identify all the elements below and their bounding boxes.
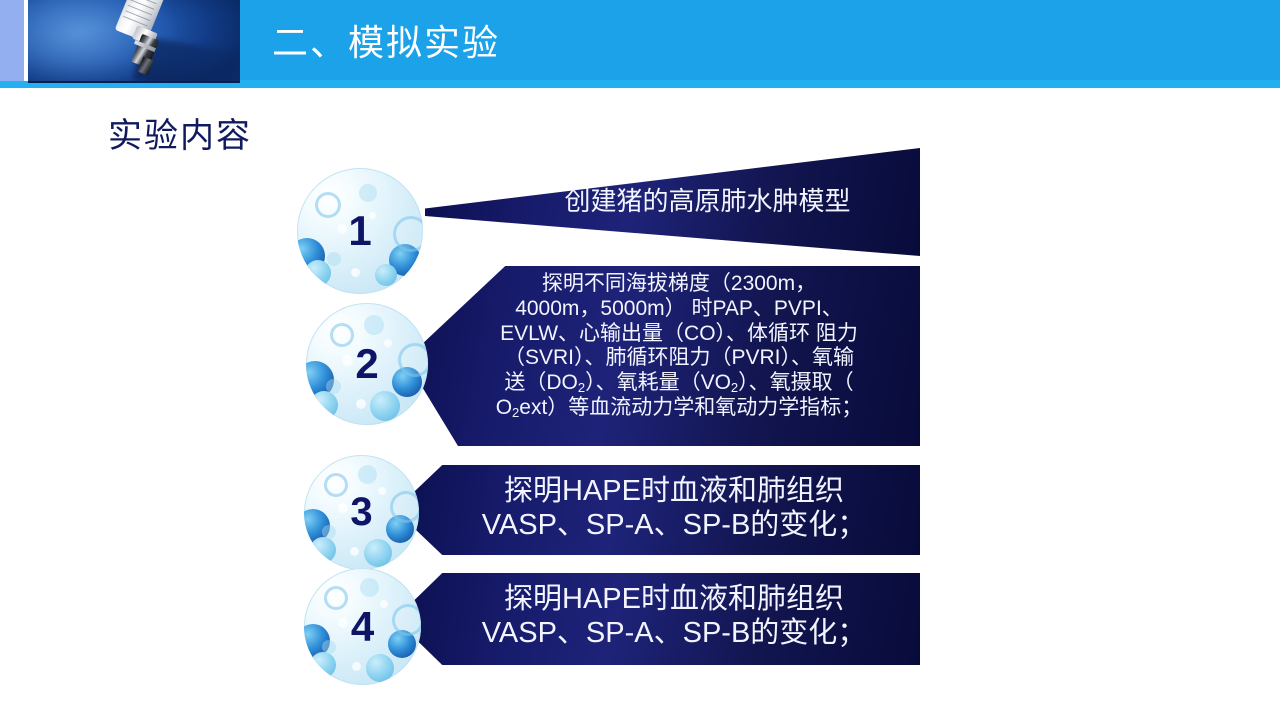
banner-line: 4000m，5000m） 时PAP、PVPI、	[440, 297, 918, 322]
item-2-number: 2	[306, 303, 428, 425]
item-3-number-circle[interactable]: 3	[304, 455, 419, 570]
banner-line: 创建猪的高原肺水肿模型	[505, 186, 910, 217]
item-3-number: 3	[304, 455, 419, 570]
item-4-number: 4	[304, 568, 421, 685]
item-1-number: 1	[297, 168, 423, 294]
section-subtitle: 实验内容	[108, 108, 252, 157]
banner-line: 探明不同海拔梯度（2300m，	[440, 272, 918, 297]
banner-line: VASP、SP-A、SP-B的变化；	[430, 616, 918, 650]
item-4-number-circle[interactable]: 4	[304, 568, 421, 685]
banner-line: O2ext）等血流动力学和氧动力学指标；	[440, 396, 918, 421]
item-2-number-circle[interactable]: 2	[306, 303, 428, 425]
item-4-text: 探明HAPE时血液和肺组织VASP、SP-A、SP-B的变化；	[430, 582, 918, 650]
banner-line: 探明HAPE时血液和肺组织	[430, 582, 918, 616]
item-1-number-circle[interactable]: 1	[297, 168, 423, 294]
banner-line: 送（DO2）、氧耗量（VO2）、氧摄取（	[440, 371, 918, 396]
syringe-photo	[28, 0, 240, 83]
item-1-text: 创建猪的高原肺水肿模型	[505, 186, 910, 217]
item-3-text: 探明HAPE时血液和肺组织VASP、SP-A、SP-B的变化；	[430, 474, 918, 542]
banner-line: VASP、SP-A、SP-B的变化；	[430, 508, 918, 542]
banner-line: 探明HAPE时血液和肺组织	[430, 474, 918, 508]
slide-root: 二、模拟实验 实验内容 创建猪的高原肺水肿模型 1 探明不同海拔梯度（2300m…	[0, 0, 1280, 720]
banner-line: EVLW、心输出量（CO）、体循环 阻力	[440, 322, 918, 347]
item-2-text: 探明不同海拔梯度（2300m，4000m，5000m） 时PAP、PVPI、EV…	[440, 272, 918, 421]
banner-line: （SVRI）、肺循环阻力（PVRI）、氧输	[440, 346, 918, 371]
header-left-strip	[0, 0, 24, 81]
page-title: 二、模拟实验	[272, 14, 500, 66]
